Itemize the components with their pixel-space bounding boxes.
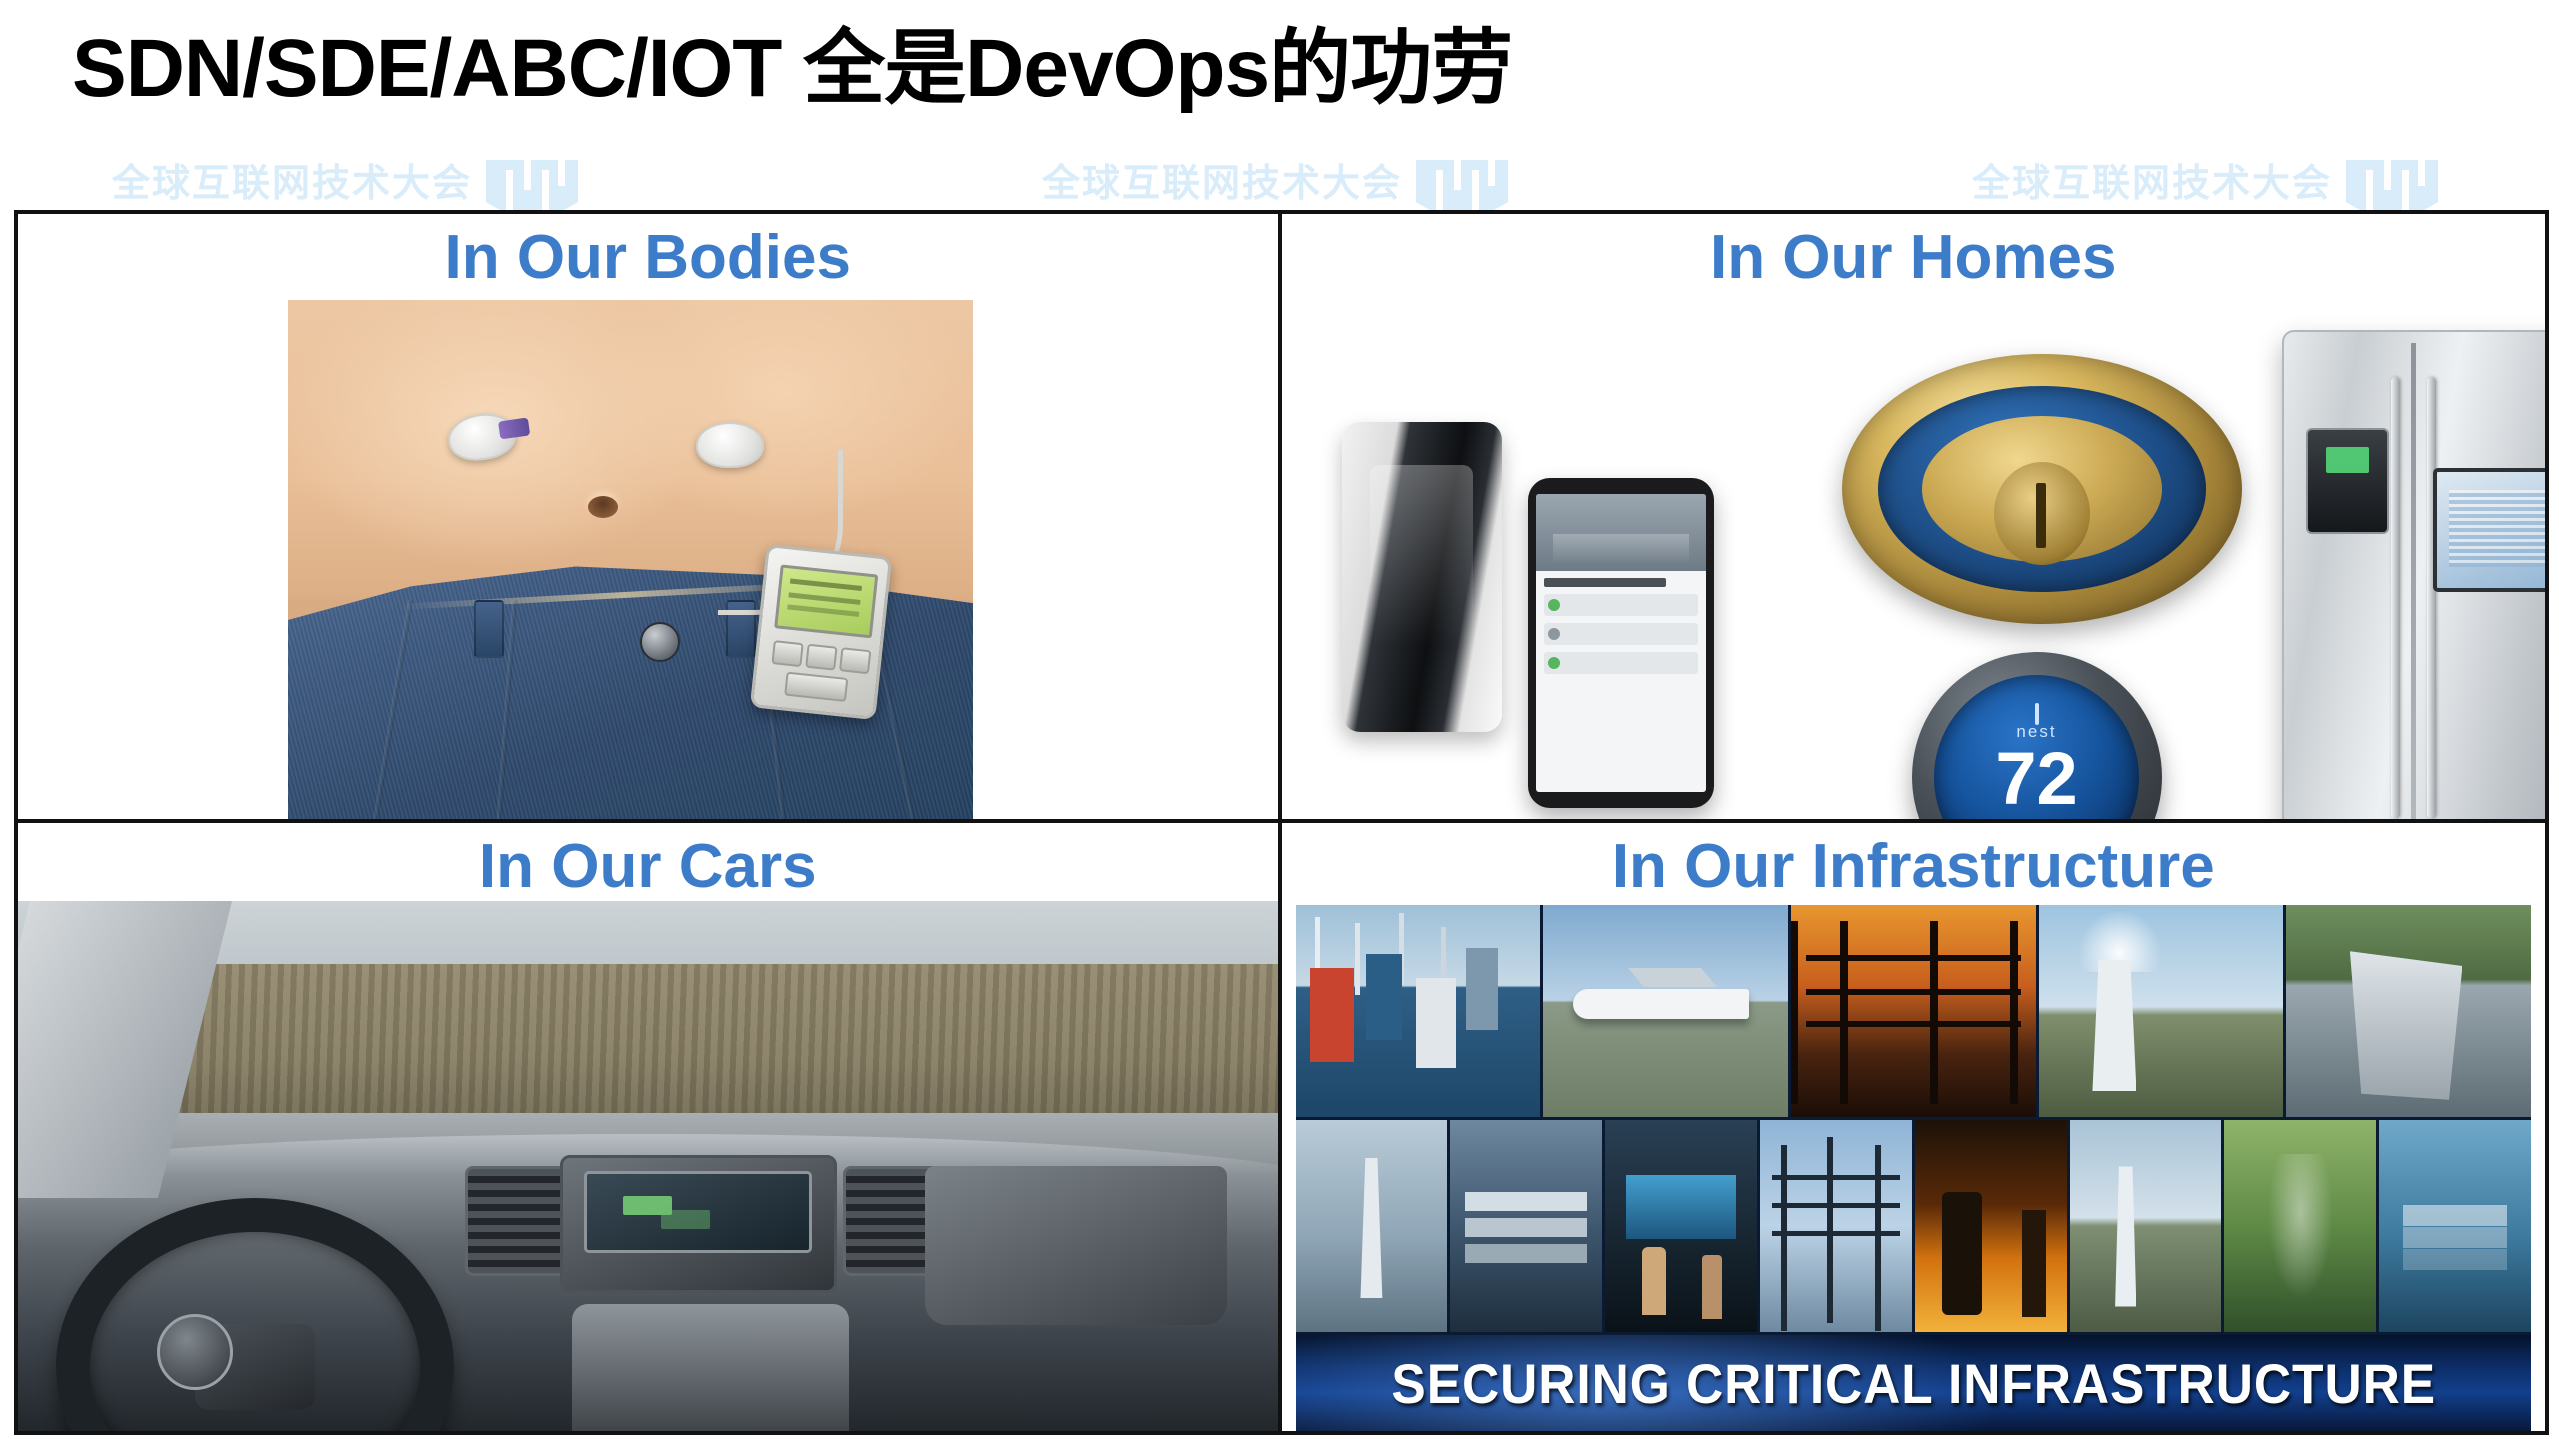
pump-button [839, 647, 871, 674]
phone-headline [1544, 578, 1666, 587]
car-badge [157, 1314, 233, 1390]
jeans-button [640, 622, 680, 662]
watermark-cn-label: 全球互联网技术大会 [1972, 165, 2332, 203]
fridge-handle [2391, 377, 2400, 818]
collage-cell-cooling-towers [2039, 905, 2284, 1117]
belt-loop [474, 600, 504, 658]
collage-cell-reservoir [2379, 1120, 2531, 1332]
infrastructure-banner-text: SECURING CRITICAL INFRASTRUCTURE [1391, 1351, 2436, 1416]
thermostat-setpoint-tick [2035, 703, 2039, 725]
collage-cell-airliner [1543, 905, 1788, 1117]
fridge-door-split [2411, 343, 2416, 822]
collage-cell-water-gate [1450, 1120, 1602, 1332]
panel-homes: In Our Homes [1282, 214, 2546, 823]
collage-cell-control-tower [1296, 1120, 1448, 1332]
thermostat-temperature: 72 [1995, 744, 2077, 814]
panel-infrastructure: In Our Infrastructure [1282, 823, 2546, 1432]
phone-screen [1536, 494, 1706, 792]
page-title: SDN/SDE/ABC/IOT 全是DevOps的功劳 [72, 22, 2372, 116]
insulin-pump [750, 544, 892, 720]
smart-refrigerator-device [2282, 330, 2546, 823]
collage-cell-power-grid [1791, 905, 2036, 1117]
collage-cell-hydro-dam [2286, 905, 2531, 1117]
car-dashboard-photo [18, 901, 1278, 1432]
center-console [572, 1304, 849, 1431]
watermark-cn-label: 全球互联网技术大会 [112, 165, 472, 203]
collage-cell-smoke-stacks [2070, 1120, 2222, 1332]
iot-domain-grid: In Our Bodies [14, 210, 2549, 1435]
smart-lock-device: SmartLock [1842, 354, 2242, 624]
collage-cell-shipping-port [1296, 905, 1541, 1117]
lock-keyhole [1994, 462, 2090, 565]
infrastructure-banner: SECURING CRITICAL INFRASTRUCTURE [1296, 1335, 2532, 1431]
phone-status-row [1544, 652, 1698, 674]
watermark-cn-label: 全球互联网技术大会 [1042, 165, 1402, 203]
smart-thermostat-device: nest 72 HEATING [1912, 652, 2162, 823]
pump-button [784, 672, 848, 702]
insulin-pump-photo [288, 300, 973, 823]
center-stack [560, 1155, 837, 1293]
fridge-water-dispenser [2306, 428, 2388, 534]
panel-title-homes: In Our Homes [1282, 214, 2546, 293]
smartphone-device [1528, 478, 1714, 808]
phone-status-row [1544, 623, 1698, 645]
door-sensor-device [1342, 422, 1502, 732]
panel-title-cars: In Our Cars [18, 823, 1278, 902]
panel-bodies: In Our Bodies [18, 214, 1282, 823]
panel-title-infrastructure: In Our Infrastructure [1282, 823, 2546, 902]
collage-row-top [1296, 905, 2532, 1120]
thermostat-face: nest 72 HEATING [1934, 675, 2139, 823]
slide-root: SDN/SDE/ABC/IOT 全是DevOps的功劳 全球互联网技术大会 GL… [0, 0, 2559, 1439]
fridge-handle [2427, 377, 2436, 818]
glove-box [925, 1166, 1227, 1325]
smart-home-devices: SmartLock nest 72 HEATING [1282, 292, 2546, 819]
panel-image-infrastructure: SECURING CRITICAL INFRASTRUCTURE [1282, 901, 2546, 1432]
collage-row-bottom [1296, 1120, 2532, 1335]
panel-image-homes: SmartLock nest 72 HEATING [1282, 292, 2546, 819]
pump-button [805, 644, 837, 671]
pump-button [771, 640, 803, 667]
pump-screen [774, 564, 878, 638]
panel-title-bodies: In Our Bodies [18, 214, 1278, 293]
panel-image-bodies [18, 292, 1278, 819]
infrastructure-collage: SECURING CRITICAL INFRASTRUCTURE [1296, 905, 2532, 1432]
phone-status-row [1544, 594, 1698, 616]
fridge-touch-screen [2433, 468, 2545, 593]
phone-camera-feed [1536, 494, 1706, 571]
collage-cell-firefighters [1915, 1120, 2067, 1332]
collage-cell-green-field [2224, 1120, 2376, 1332]
collage-cell-operator-console [1605, 1120, 1757, 1332]
navel [588, 496, 618, 518]
panel-image-cars [18, 901, 1278, 1432]
collage-cell-transmission-pylons [1760, 1120, 1912, 1332]
panel-cars: In Our Cars [18, 823, 1282, 1432]
navigation-screen [584, 1171, 812, 1253]
